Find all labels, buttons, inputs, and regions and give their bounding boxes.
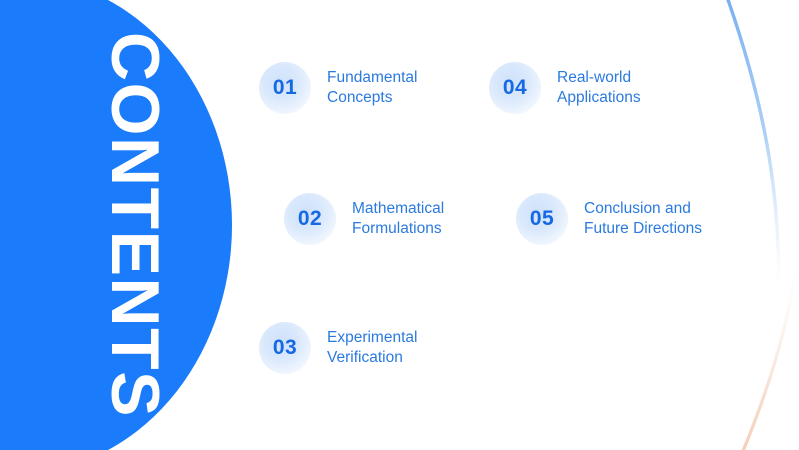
item-label: Conclusion and Future Directions (584, 199, 702, 239)
item-number-badge: 01 (259, 62, 311, 114)
contents-item-01[interactable]: 01 Fundamental Concepts (259, 62, 417, 114)
blue-arc-decoration (726, 0, 779, 300)
item-label: Fundamental Concepts (327, 68, 417, 108)
peach-arc-decoration (741, 262, 796, 450)
item-number-badge: 05 (516, 193, 568, 245)
item-number-badge: 02 (284, 193, 336, 245)
contents-item-03[interactable]: 03 Experimental Verification (259, 322, 417, 374)
item-number-badge: 04 (489, 62, 541, 114)
item-number: 04 (503, 76, 527, 100)
item-number: 05 (530, 207, 554, 231)
item-number: 03 (273, 336, 297, 360)
contents-slide: CONTENTS 01 Fundamental Concepts 02 Math… (0, 0, 799, 450)
page-title: CONTENTS (101, 32, 169, 418)
item-number-badge: 03 (259, 322, 311, 374)
contents-item-02[interactable]: 02 Mathematical Formulations (284, 193, 444, 245)
item-label: Mathematical Formulations (352, 199, 444, 239)
item-label: Real-world Applications (557, 68, 641, 108)
item-number: 01 (273, 76, 297, 100)
contents-item-04[interactable]: 04 Real-world Applications (489, 62, 641, 114)
item-label: Experimental Verification (327, 328, 417, 368)
title-area: CONTENTS (0, 0, 240, 450)
contents-item-05[interactable]: 05 Conclusion and Future Directions (516, 193, 702, 245)
item-number: 02 (298, 207, 322, 231)
